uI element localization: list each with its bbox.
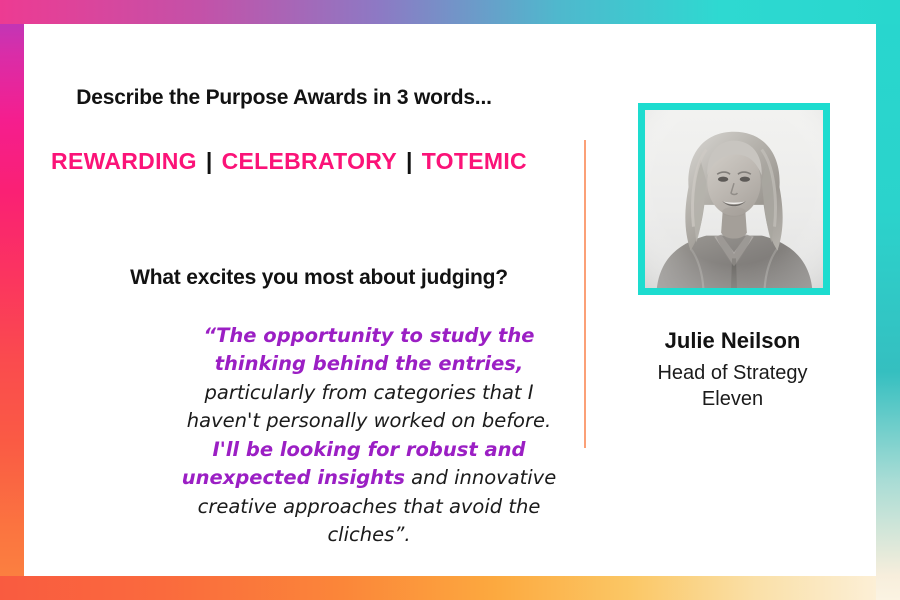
three-words-item-1: REWARDING bbox=[51, 148, 197, 174]
person-organisation: Eleven bbox=[589, 387, 876, 413]
quote-segment-1: “The opportunity to study the thinking b… bbox=[204, 324, 535, 375]
three-words-separator-2: | bbox=[397, 148, 422, 174]
portrait-image bbox=[645, 110, 823, 288]
quote-text: “The opportunity to study the thinking b… bbox=[174, 322, 564, 550]
question-2-heading: What excites you most about judging? bbox=[24, 266, 614, 290]
three-words-item-3: TOTEMIC bbox=[422, 148, 527, 174]
right-profile-column: Julie Neilson Head of Strategy Eleven bbox=[589, 24, 876, 576]
judge-spotlight-card: Describe the Purpose Awards in 3 words..… bbox=[0, 0, 900, 600]
card-inner-surface: Describe the Purpose Awards in 3 words..… bbox=[24, 24, 876, 576]
left-content-column: Describe the Purpose Awards in 3 words..… bbox=[24, 24, 589, 576]
three-words-separator-1: | bbox=[197, 148, 222, 174]
person-name: Julie Neilson bbox=[589, 328, 876, 354]
person-role: Head of Strategy bbox=[589, 361, 876, 387]
question-1-heading: Describe the Purpose Awards in 3 words..… bbox=[24, 86, 544, 110]
three-words-item-2: CELEBRATORY bbox=[222, 148, 397, 174]
three-words-answer: REWARDING|CELEBRATORY|TOTEMIC bbox=[24, 148, 554, 175]
portrait-photo-frame bbox=[638, 103, 830, 295]
vertical-divider bbox=[584, 140, 586, 448]
quote-segment-2: particularly from categories that I have… bbox=[187, 381, 551, 432]
